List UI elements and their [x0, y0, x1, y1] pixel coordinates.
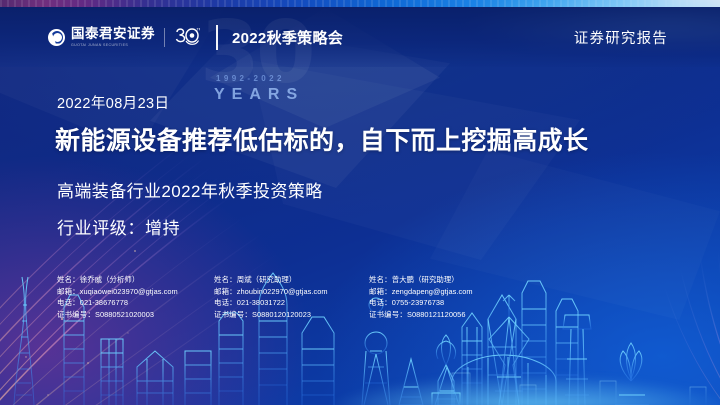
- analyst-cert-line: 证书编号：S0880120120023: [214, 309, 369, 321]
- report-title: 新能源设备推荐低估标的，自下而上挖掘高成长: [55, 121, 588, 157]
- analyst-list: 姓名：徐乔威（分析师） 邮箱：xuqiaowei023970@gtjas.com…: [57, 274, 677, 320]
- analyst-email[interactable]: zengdapeng@gtjas.com: [392, 287, 473, 296]
- analyst-phone: 021-38031722: [237, 298, 285, 307]
- cover-content: 2022年08月23日 新能源设备推荐低估标的，自下而上挖掘高成长 高端装备行业…: [0, 0, 720, 405]
- publish-date: 2022年08月23日: [57, 92, 169, 113]
- analyst-cert: S0880120120023: [252, 310, 311, 319]
- analyst-card: 姓名：徐乔威（分析师） 邮箱：xuqiaowei023970@gtjas.com…: [57, 274, 214, 320]
- analyst-phone-line: 电话：021-38031722: [214, 297, 369, 309]
- analyst-name-line: 姓名：曾大鹏（研究助理）: [369, 274, 526, 286]
- analyst-cert: S0880521020003: [95, 310, 154, 319]
- analyst-name-label: 姓名：: [214, 275, 237, 284]
- analyst-email-line: 邮箱：xuqiaowei023970@gtjas.com: [57, 286, 214, 298]
- analyst-email[interactable]: xuqiaowei023970@gtjas.com: [80, 287, 178, 296]
- analyst-name: 曾大鹏（研究助理）: [392, 275, 459, 284]
- analyst-email[interactable]: zhoubin022970@gtjas.com: [237, 287, 328, 296]
- analyst-name-label: 姓名：: [369, 275, 392, 284]
- analyst-name-label: 姓名：: [57, 275, 80, 284]
- analyst-email-label: 邮箱：: [369, 287, 392, 296]
- report-subtitle: 高端装备行业2022年秋季投资策略: [57, 177, 323, 202]
- analyst-phone-label: 电话：: [214, 298, 237, 307]
- analyst-email-label: 邮箱：: [214, 287, 237, 296]
- analyst-phone-label: 电话：: [369, 298, 392, 307]
- analyst-phone: 021-38676778: [80, 298, 128, 307]
- industry-rating: 行业评级：增持: [57, 214, 180, 239]
- analyst-name: 周斌（研究助理）: [237, 275, 297, 284]
- slide-canvas: 30 1992-2022 YEARS 国泰君安证券 GUOTAI JUNAN S…: [0, 0, 720, 405]
- analyst-name-line: 姓名：周斌（研究助理）: [214, 274, 369, 286]
- analyst-cert-line: 证书编号：S0880521020003: [57, 309, 214, 321]
- analyst-cert-line: 证书编号：S0880121120056: [369, 309, 526, 321]
- analyst-cert-label: 证书编号：: [214, 310, 252, 319]
- analyst-name: 徐乔威（分析师）: [80, 275, 140, 284]
- analyst-cert: S0880121120056: [407, 310, 466, 319]
- analyst-name-line: 姓名：徐乔威（分析师）: [57, 274, 214, 286]
- analyst-phone: 0755-23976738: [392, 298, 444, 307]
- analyst-email-line: 邮箱：zhoubin022970@gtjas.com: [214, 286, 369, 298]
- analyst-card: 姓名：曾大鹏（研究助理） 邮箱：zengdapeng@gtjas.com 电话：…: [369, 274, 526, 320]
- analyst-email-line: 邮箱：zengdapeng@gtjas.com: [369, 286, 526, 298]
- analyst-card: 姓名：周斌（研究助理） 邮箱：zhoubin022970@gtjas.com 电…: [214, 274, 369, 320]
- analyst-cert-label: 证书编号：: [369, 310, 407, 319]
- analyst-phone-line: 电话：0755-23976738: [369, 297, 526, 309]
- analyst-email-label: 邮箱：: [57, 287, 80, 296]
- analyst-phone-label: 电话：: [57, 298, 80, 307]
- analyst-phone-line: 电话：021-38676778: [57, 297, 214, 309]
- analyst-cert-label: 证书编号：: [57, 310, 95, 319]
